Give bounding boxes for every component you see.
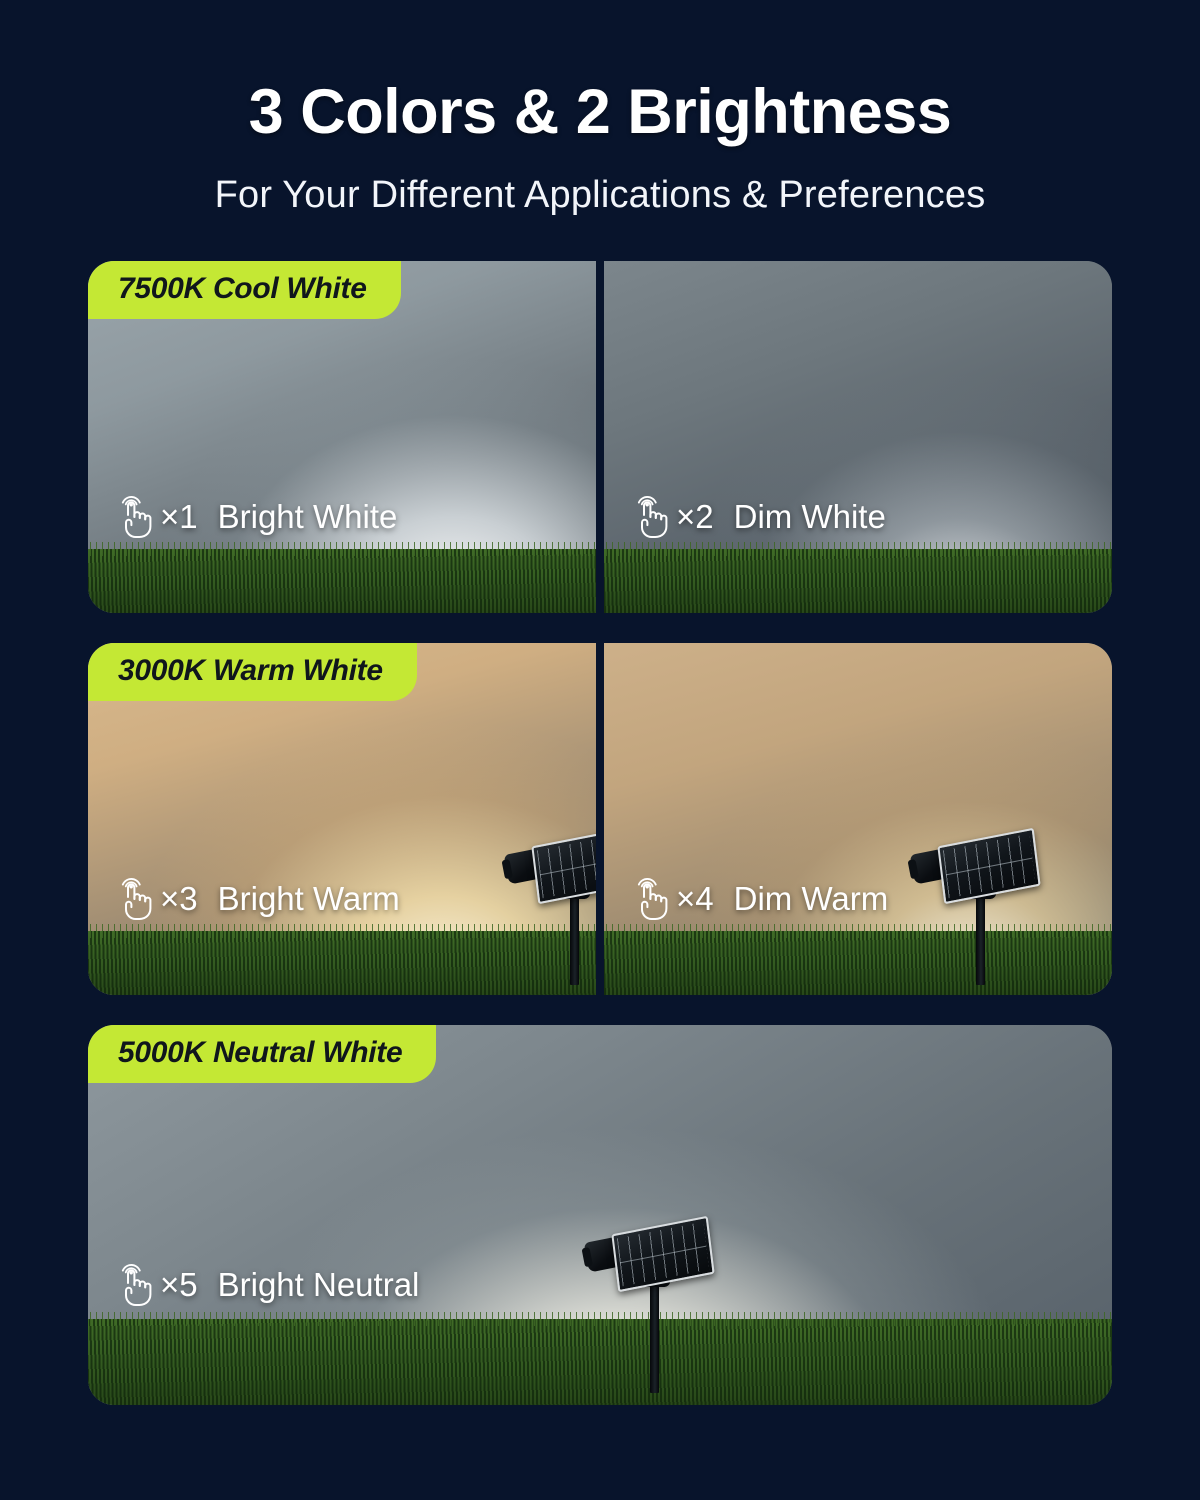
page-title: 3 Colors & 2 Brightness xyxy=(0,78,1200,146)
header: 3 Colors & 2 Brightness For Your Differe… xyxy=(0,0,1200,217)
mode-label: Dim Warm xyxy=(734,880,889,918)
panel-rows: 7500K Cool White xyxy=(0,261,1200,1405)
row-warm-white: 3000K Warm White xyxy=(88,643,1112,995)
tap-count: ×4 xyxy=(676,880,714,918)
badge-cool-white: 7500K Cool White xyxy=(88,261,401,319)
tap-count: ×1 xyxy=(160,498,198,536)
tap-gesture-icon xyxy=(114,877,154,921)
row-cool-white: 7500K Cool White xyxy=(88,261,1112,613)
panel-bright-white: 7500K Cool White xyxy=(88,261,596,613)
infographic-page: 3 Colors & 2 Brightness For Your Differe… xyxy=(0,0,1200,1500)
panel-bright-warm: 3000K Warm White xyxy=(88,643,596,995)
tap-gesture-icon xyxy=(630,877,670,921)
solar-spotlight xyxy=(504,833,596,993)
lamp-stake xyxy=(570,889,579,985)
badge-neutral-white: 5000K Neutral White xyxy=(88,1025,436,1083)
panel-bright-neutral: 5000K Neutral White xyxy=(88,1025,1112,1405)
mode-label: Bright White xyxy=(218,498,398,536)
panel-dim-warm: ×4 Dim Warm xyxy=(604,643,1112,995)
tap-count: ×2 xyxy=(676,498,714,536)
solar-panel-board xyxy=(531,828,596,904)
caption-dim-white: ×2 Dim White xyxy=(630,495,886,539)
grass-foreground xyxy=(88,549,596,613)
lamp-stake xyxy=(976,889,985,985)
tap-count: ×3 xyxy=(160,880,198,918)
solar-spotlight xyxy=(910,833,1050,993)
tap-gesture-icon xyxy=(114,1263,154,1307)
caption-bright-white: ×1 Bright White xyxy=(114,495,397,539)
caption-bright-neutral: ×5 Bright Neutral xyxy=(114,1263,419,1307)
mode-label: Bright Warm xyxy=(218,880,400,918)
row-neutral-white: 5000K Neutral White xyxy=(88,1025,1112,1405)
caption-bright-warm: ×3 Bright Warm xyxy=(114,877,400,921)
caption-dim-warm: ×4 Dim Warm xyxy=(630,877,888,921)
tap-gesture-icon xyxy=(630,495,670,539)
tap-gesture-icon xyxy=(114,495,154,539)
grass-foreground xyxy=(604,549,1112,613)
solar-spotlight xyxy=(584,1221,724,1391)
panel-dim-white: ×2 Dim White xyxy=(604,261,1112,613)
solar-panel-board xyxy=(611,1216,714,1292)
lamp-stake xyxy=(650,1277,659,1393)
mode-label: Bright Neutral xyxy=(218,1266,420,1304)
solar-panel-board xyxy=(937,828,1040,904)
page-subtitle: For Your Different Applications & Prefer… xyxy=(0,174,1200,217)
mode-label: Dim White xyxy=(734,498,886,536)
badge-warm-white: 3000K Warm White xyxy=(88,643,417,701)
tap-count: ×5 xyxy=(160,1266,198,1304)
